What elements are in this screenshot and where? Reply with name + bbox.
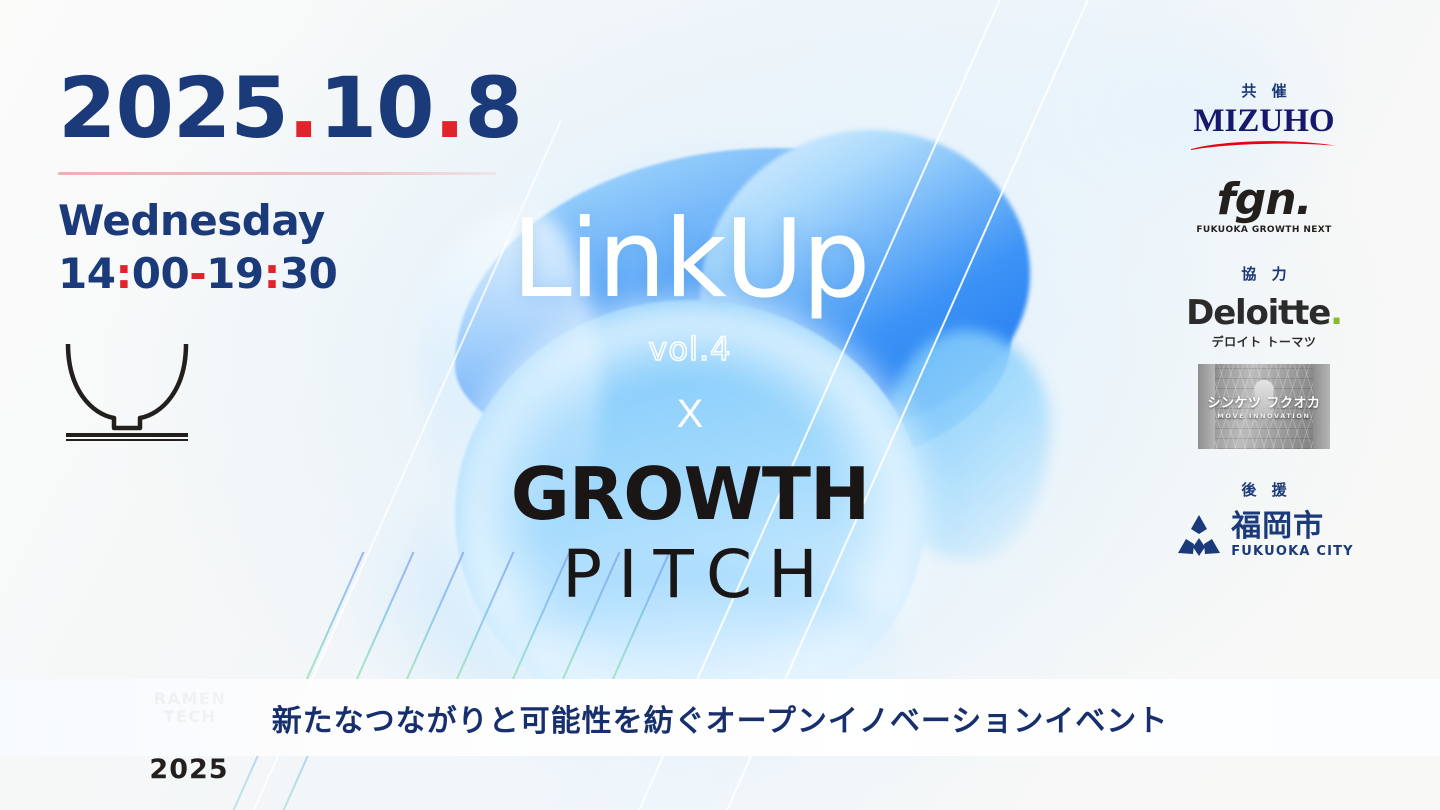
date-month: 10: [319, 59, 434, 157]
poster-canvas: 2025.10.8 Wednesday 14:00-19:30 RAMEN TE…: [0, 0, 1440, 810]
sponsor-label-support: 後 援: [1174, 479, 1354, 500]
growth-pitch-line1: GROWTH: [440, 458, 940, 530]
fgn-logo: fgn. FUKUOKA GROWTH NEXT: [1174, 178, 1354, 235]
ramen-tech-logo: RAMEN TECH 2025: [62, 338, 192, 448]
cross-symbol: X: [440, 394, 940, 434]
time-colon-1: :: [115, 249, 131, 298]
time-end-hour: 19: [206, 249, 263, 298]
tagline-band: 新たなつながりと可能性を紡ぐオープンイノベーションイベント: [0, 679, 1440, 756]
growth-pitch-line2: PITCH: [440, 542, 940, 608]
deloitte-green-dot: .: [1330, 293, 1342, 333]
fgn-wordmark: fgn.: [1174, 178, 1354, 222]
date-year: 2025: [58, 59, 288, 157]
time-start-min: 00: [132, 249, 189, 298]
shinketsu-subtitle: MOVE INNOVATION: [1198, 412, 1330, 420]
event-date: 2025.10.8: [58, 66, 528, 150]
sponsor-label-cohost: 共 催: [1174, 80, 1354, 101]
shinketsu-fukuoka-logo: シンケツ フクオカ MOVE INNOVATION: [1198, 364, 1330, 449]
date-separator-2: .: [434, 59, 465, 157]
deloitte-name: Deloitte: [1186, 293, 1330, 333]
time-start-hour: 14: [58, 249, 115, 298]
linkup-volume: vol.4: [440, 330, 940, 368]
date-day: 8: [465, 59, 522, 157]
date-separator-1: .: [288, 59, 319, 157]
time-end-min: 30: [280, 249, 337, 298]
center-lockup: LinkUp vol.4 X GROWTH PITCH: [440, 150, 940, 608]
fukuoka-city-jp: 福岡市: [1231, 512, 1354, 542]
fukuoka-city-emblem-icon: [1174, 513, 1224, 559]
ramen-tech-bowl-icon: [62, 338, 192, 448]
fukuoka-city-logo: 福岡市 FUKUOKA CITY: [1174, 512, 1354, 559]
deloitte-logo: Deloitte. デロイト トーマツ: [1174, 296, 1354, 350]
fgn-subtitle: FUKUOKA GROWTH NEXT: [1174, 225, 1354, 235]
mizuho-swoosh-icon: [1189, 139, 1339, 151]
time-colon-2: :: [264, 249, 280, 298]
sponsor-label-cooperation: 協 力: [1174, 263, 1354, 284]
linkup-title: LinkUp: [440, 206, 940, 314]
event-tagline: 新たなつながりと可能性を紡ぐオープンイノベーションイベント: [272, 696, 1169, 740]
mizuho-wordmark: MIZUHO: [1174, 105, 1354, 138]
fukuoka-city-texts: 福岡市 FUKUOKA CITY: [1231, 512, 1354, 559]
date-divider-rule: [58, 172, 496, 175]
deloitte-subtitle: デロイト トーマツ: [1174, 333, 1354, 350]
time-dash: -: [189, 249, 206, 298]
fukuoka-city-en: FUKUOKA CITY: [1231, 544, 1354, 559]
ramen-tech-year: 2025: [124, 756, 254, 783]
sponsor-column: 共 催 MIZUHO fgn. FUKUOKA GROWTH NEXT 協 力 …: [1174, 80, 1354, 559]
shinketsu-wordmark: シンケツ フクオカ: [1198, 392, 1330, 411]
deloitte-wordmark: Deloitte.: [1174, 296, 1354, 330]
mizuho-logo: MIZUHO: [1174, 105, 1354, 156]
